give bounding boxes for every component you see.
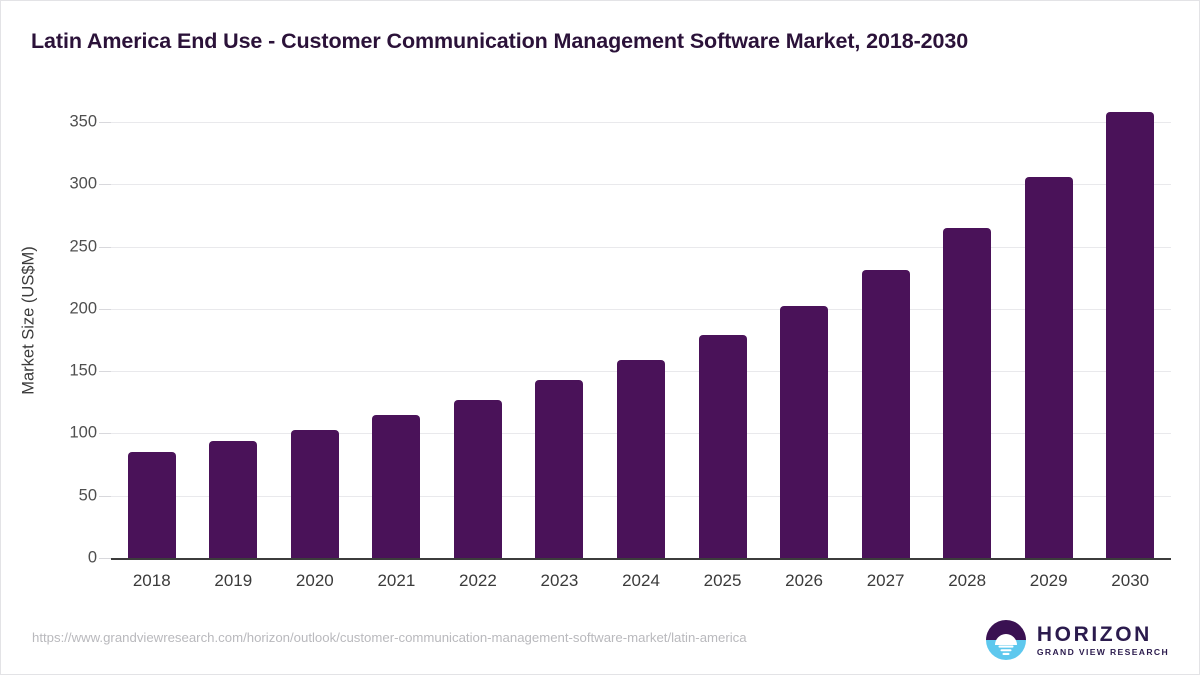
y-axis-tick-mark: [99, 184, 111, 185]
y-axis-tick-mark: [99, 371, 111, 372]
chart-card: Latin America End Use - Customer Communi…: [0, 0, 1200, 675]
x-axis-tick-label: 2018: [112, 571, 192, 591]
x-axis-tick-label: 2020: [275, 571, 355, 591]
x-axis-tick-label: 2028: [927, 571, 1007, 591]
y-axis-tick-label: 150: [1, 362, 97, 381]
bar[interactable]: [862, 270, 910, 558]
bar[interactable]: [699, 335, 747, 558]
x-axis-tick-label: 2022: [438, 571, 518, 591]
x-axis-tick-labels: 2018201920202021202220232024202520262027…: [111, 571, 1171, 599]
horizon-logo-icon: [985, 619, 1027, 661]
bar[interactable]: [372, 415, 420, 558]
x-axis-tick-label: 2029: [1009, 571, 1089, 591]
horizon-logo[interactable]: HORIZON GRAND VIEW RESEARCH: [985, 617, 1169, 663]
logo-subtitle: GRAND VIEW RESEARCH: [1037, 648, 1169, 657]
y-axis-tick-label: 250: [1, 237, 97, 256]
horizon-logo-text: HORIZON GRAND VIEW RESEARCH: [1037, 624, 1169, 657]
bar[interactable]: [454, 400, 502, 558]
x-axis-tick-label: 2024: [601, 571, 681, 591]
bar[interactable]: [943, 228, 991, 558]
y-axis-tick-mark: [99, 247, 111, 248]
y-axis-tick-label: 50: [1, 486, 97, 505]
x-axis-tick-label: 2026: [764, 571, 844, 591]
y-axis-tick-labels: 050100150200250300350: [1, 101, 97, 558]
y-axis-tick-mark: [99, 433, 111, 434]
y-axis-tick-label: 0: [1, 549, 97, 568]
y-axis-tick-label: 100: [1, 424, 97, 443]
logo-wordmark: HORIZON: [1037, 624, 1169, 645]
x-axis-tick-label: 2023: [519, 571, 599, 591]
y-axis-tick-mark: [99, 122, 111, 123]
bar[interactable]: [128, 452, 176, 558]
x-axis-tick-label: 2025: [683, 571, 763, 591]
y-axis-tick-label: 350: [1, 112, 97, 131]
y-axis-tick-mark: [99, 496, 111, 497]
y-axis-tick-label: 300: [1, 175, 97, 194]
x-axis-tick-label: 2030: [1090, 571, 1170, 591]
bar[interactable]: [617, 360, 665, 558]
x-axis-line: [111, 558, 1171, 560]
bar-series: [111, 101, 1171, 558]
bar[interactable]: [1106, 112, 1154, 558]
page-title: Latin America End Use - Customer Communi…: [31, 29, 1181, 54]
bar[interactable]: [780, 306, 828, 558]
y-axis-tick-label: 200: [1, 299, 97, 318]
x-axis-tick-label: 2027: [846, 571, 926, 591]
x-axis-tick-label: 2021: [356, 571, 436, 591]
bar[interactable]: [535, 380, 583, 558]
y-axis-tick-mark: [99, 309, 111, 310]
source-url[interactable]: https://www.grandviewresearch.com/horizo…: [32, 630, 747, 645]
bar[interactable]: [209, 441, 257, 558]
y-axis-tick-mark: [99, 558, 111, 559]
bar[interactable]: [1025, 177, 1073, 558]
x-axis-tick-label: 2019: [193, 571, 273, 591]
bar[interactable]: [291, 430, 339, 558]
